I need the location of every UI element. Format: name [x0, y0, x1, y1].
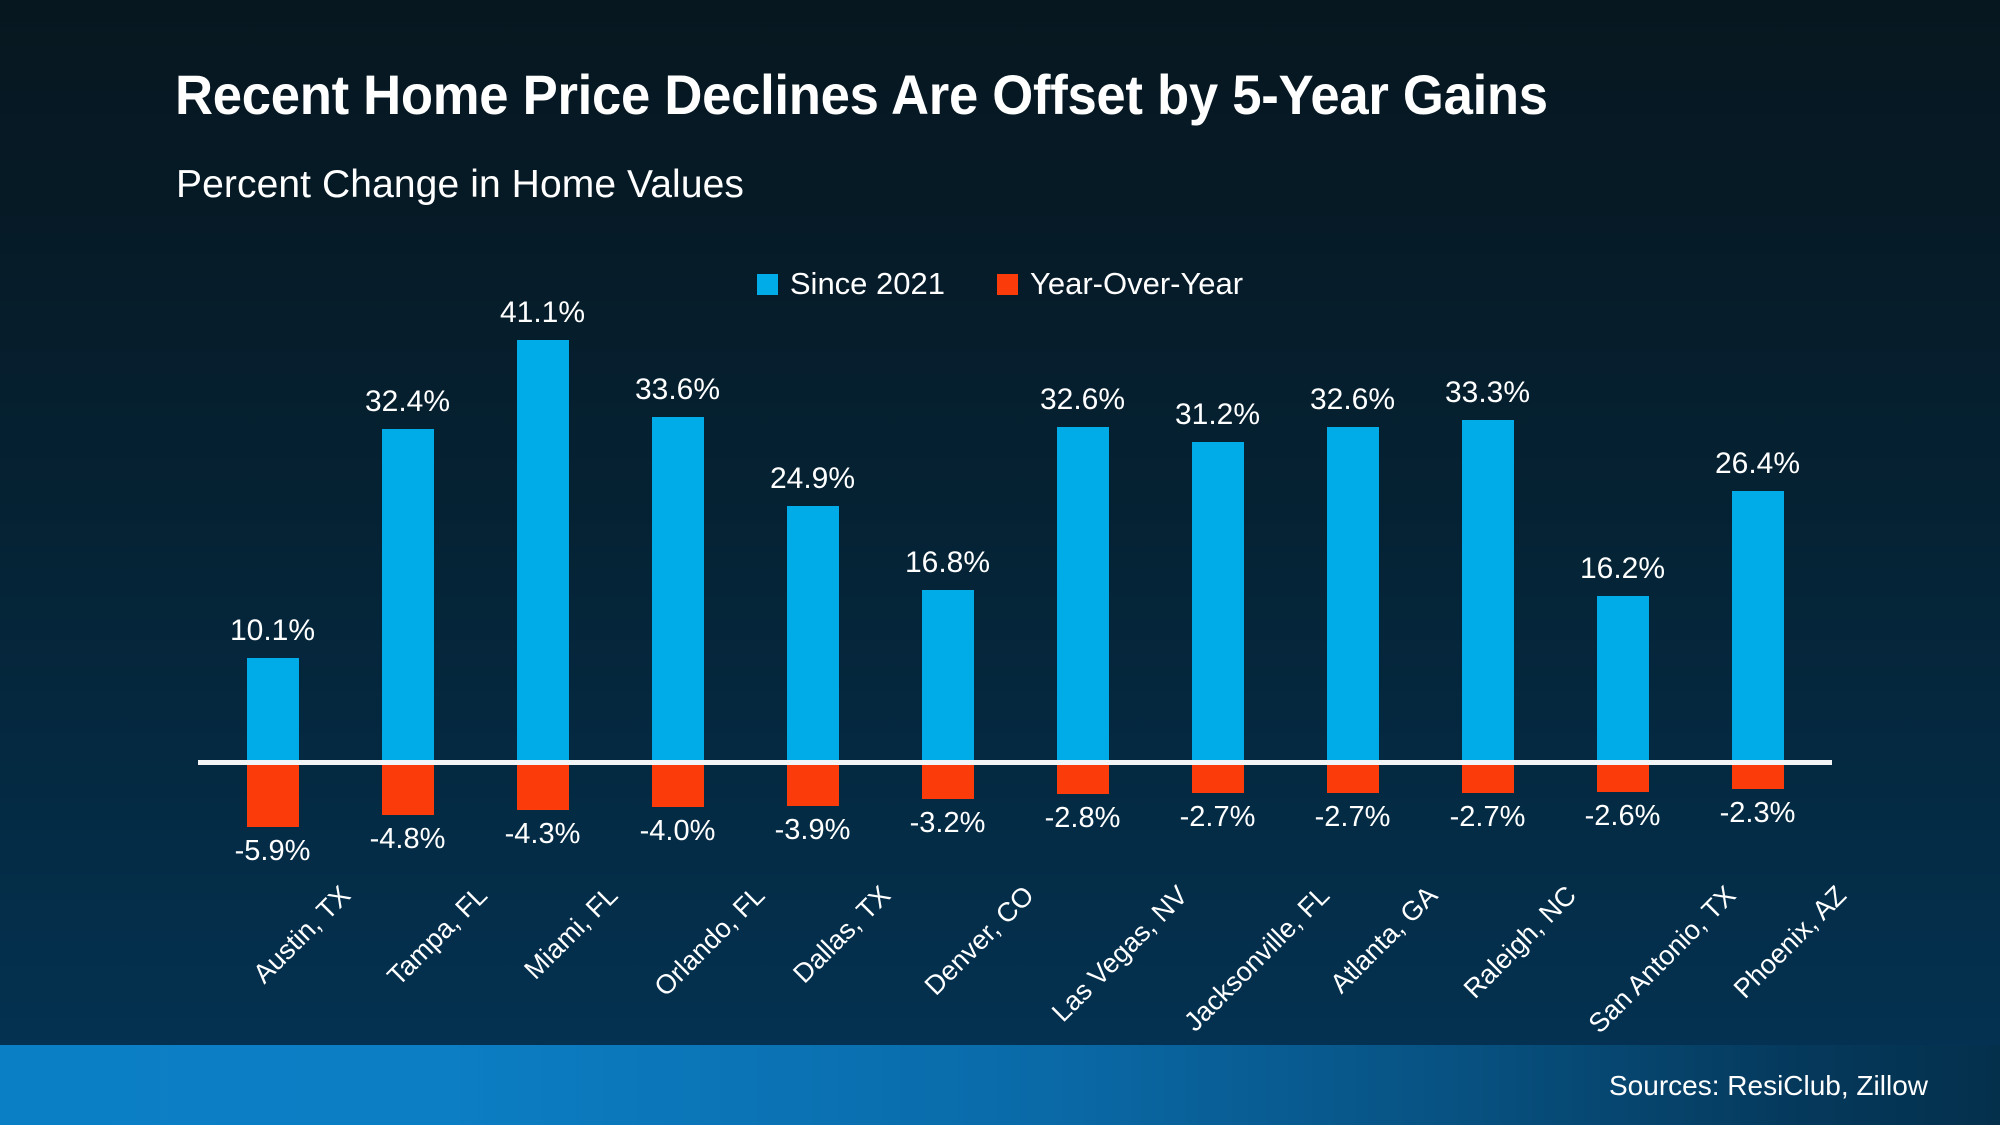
- bar-since-2021[interactable]: [1462, 420, 1514, 762]
- bar-since-2021[interactable]: [382, 429, 434, 762]
- bar-slot-positive: 26.4%: [1690, 300, 1825, 762]
- bar-slot-negative: -3.9%: [745, 765, 880, 885]
- page-subtitle: Percent Change in Home Values: [176, 163, 744, 207]
- bar-slot-positive: 33.3%: [1420, 300, 1555, 762]
- chart-canvas: Recent Home Price Declines Are Offset by…: [0, 0, 2000, 1125]
- category-label-slot: Phoenix, AZ: [1690, 880, 1825, 1030]
- bar-value-label-year-over-year: -2.7%: [1180, 801, 1256, 834]
- bar-slot-negative: -2.7%: [1150, 765, 1285, 885]
- bar-slot-negative: -4.3%: [475, 765, 610, 885]
- bar-slot-negative: -5.9%: [205, 765, 340, 885]
- bar-slot-positive: 33.6%: [610, 300, 745, 762]
- bar-value-label-since-2021: 31.2%: [1175, 398, 1260, 432]
- bar-since-2021[interactable]: [1327, 427, 1379, 762]
- category-label-slot: Austin, TX: [205, 880, 340, 1030]
- bar-slot-positive: 16.2%: [1555, 300, 1690, 762]
- bar-slot-negative: -4.8%: [340, 765, 475, 885]
- category-label-slot: Orlando, FL: [610, 880, 745, 1030]
- bar-slot-positive: 32.6%: [1285, 300, 1420, 762]
- bar-slot-negative: -2.6%: [1555, 765, 1690, 885]
- x-axis-tick-label: Miami, FL: [518, 880, 624, 986]
- bar-value-label-year-over-year: -3.2%: [910, 807, 986, 840]
- bar-since-2021[interactable]: [1057, 427, 1109, 762]
- footer-bar: Sources: ResiClub, Zillow: [0, 1045, 2000, 1125]
- bar-value-label-since-2021: 32.6%: [1040, 383, 1125, 417]
- bar-value-label-year-over-year: -4.8%: [370, 823, 446, 856]
- bar-slot-negative: -4.0%: [610, 765, 745, 885]
- bar-since-2021[interactable]: [787, 506, 839, 762]
- bar-since-2021[interactable]: [1597, 596, 1649, 762]
- legend-swatch-icon-year-over-year: [997, 274, 1018, 295]
- bar-value-label-since-2021: 16.2%: [1580, 552, 1665, 586]
- bar-value-label-year-over-year: -2.6%: [1585, 800, 1661, 833]
- bar-since-2021[interactable]: [247, 658, 299, 762]
- bar-year-over-year[interactable]: [1732, 765, 1784, 789]
- bar-year-over-year[interactable]: [382, 765, 434, 815]
- bar-slot-positive: 41.1%: [475, 300, 610, 762]
- bar-year-over-year[interactable]: [1597, 765, 1649, 792]
- bar-value-label-since-2021: 41.1%: [500, 296, 585, 330]
- x-axis-tick-label: Phoenix, AZ: [1727, 880, 1852, 1005]
- bar-slot-positive: 31.2%: [1150, 300, 1285, 762]
- bar-year-over-year[interactable]: [1057, 765, 1109, 794]
- bar-value-label-since-2021: 24.9%: [770, 462, 855, 496]
- bar-value-label-since-2021: 16.8%: [905, 546, 990, 580]
- bar-slot-negative: -2.7%: [1285, 765, 1420, 885]
- bar-slot-negative: -2.7%: [1420, 765, 1555, 885]
- positive-bar-group: 10.1%32.4%41.1%33.6%24.9%16.8%32.6%31.2%…: [205, 300, 1825, 762]
- x-axis-category-labels: Austin, TXTampa, FLMiami, FLOrlando, FLD…: [205, 880, 1825, 1030]
- category-label-slot: Jacksonville, FL: [1150, 880, 1285, 1030]
- bar-since-2021[interactable]: [922, 590, 974, 762]
- category-label-slot: Las Vegas, NV: [1015, 880, 1150, 1030]
- bar-value-label-since-2021: 10.1%: [230, 614, 315, 648]
- category-label-slot: San Antonio, TX: [1555, 880, 1690, 1030]
- bar-slot-negative: -2.8%: [1015, 765, 1150, 885]
- category-label-slot: Miami, FL: [475, 880, 610, 1030]
- page-title: Recent Home Price Declines Are Offset by…: [175, 62, 1548, 127]
- bar-value-label-since-2021: 26.4%: [1715, 447, 1800, 481]
- legend-item-since-2021[interactable]: Since 2021: [757, 266, 945, 302]
- bar-value-label-since-2021: 32.4%: [365, 385, 450, 419]
- bar-slot-negative: -3.2%: [880, 765, 1015, 885]
- bar-slot-positive: 32.6%: [1015, 300, 1150, 762]
- bar-year-over-year[interactable]: [517, 765, 569, 810]
- category-label-slot: Atlanta, GA: [1285, 880, 1420, 1030]
- source-credit: Sources: ResiClub, Zillow: [1609, 1070, 1928, 1102]
- bar-slot-positive: 10.1%: [205, 300, 340, 762]
- bar-slot-positive: 32.4%: [340, 300, 475, 762]
- bar-since-2021[interactable]: [652, 417, 704, 762]
- chart-legend: Since 2021 Year-Over-Year: [0, 266, 2000, 302]
- bar-value-label-year-over-year: -2.8%: [1045, 802, 1121, 835]
- plot-area-negative: -5.9%-4.8%-4.3%-4.0%-3.9%-3.2%-2.8%-2.7%…: [205, 765, 1825, 885]
- bar-value-label-since-2021: 33.3%: [1445, 376, 1530, 410]
- bar-value-label-year-over-year: -2.7%: [1450, 801, 1526, 834]
- bar-year-over-year[interactable]: [1192, 765, 1244, 793]
- bar-value-label-year-over-year: -2.3%: [1720, 797, 1796, 830]
- bar-year-over-year[interactable]: [1462, 765, 1514, 793]
- bar-year-over-year[interactable]: [247, 765, 299, 827]
- category-label-slot: Denver, CO: [880, 880, 1015, 1030]
- bar-year-over-year[interactable]: [787, 765, 839, 806]
- bar-value-label-year-over-year: -5.9%: [235, 835, 311, 868]
- category-label-slot: Dallas, TX: [745, 880, 880, 1030]
- bar-slot-negative: -2.3%: [1690, 765, 1825, 885]
- category-label-slot: Tampa, FL: [340, 880, 475, 1030]
- bar-slot-positive: 24.9%: [745, 300, 880, 762]
- bar-value-label-year-over-year: -3.9%: [775, 814, 851, 847]
- legend-label-since-2021: Since 2021: [790, 266, 945, 302]
- bar-value-label-since-2021: 32.6%: [1310, 383, 1395, 417]
- bar-value-label-year-over-year: -2.7%: [1315, 801, 1391, 834]
- bar-value-label-since-2021: 33.6%: [635, 373, 720, 407]
- legend-swatch-icon-since-2021: [757, 274, 778, 295]
- bar-value-label-year-over-year: -4.3%: [505, 818, 581, 851]
- bar-year-over-year[interactable]: [922, 765, 974, 799]
- bar-slot-positive: 16.8%: [880, 300, 1015, 762]
- bar-since-2021[interactable]: [517, 340, 569, 762]
- legend-label-year-over-year: Year-Over-Year: [1030, 266, 1243, 302]
- bar-since-2021[interactable]: [1732, 491, 1784, 762]
- bar-since-2021[interactable]: [1192, 442, 1244, 762]
- category-label-slot: Raleigh, NC: [1420, 880, 1555, 1030]
- legend-item-year-over-year[interactable]: Year-Over-Year: [997, 266, 1243, 302]
- bar-value-label-year-over-year: -4.0%: [640, 815, 716, 848]
- bar-year-over-year[interactable]: [652, 765, 704, 807]
- bar-year-over-year[interactable]: [1327, 765, 1379, 793]
- plot-area-positive: 10.1%32.4%41.1%33.6%24.9%16.8%32.6%31.2%…: [205, 300, 1825, 762]
